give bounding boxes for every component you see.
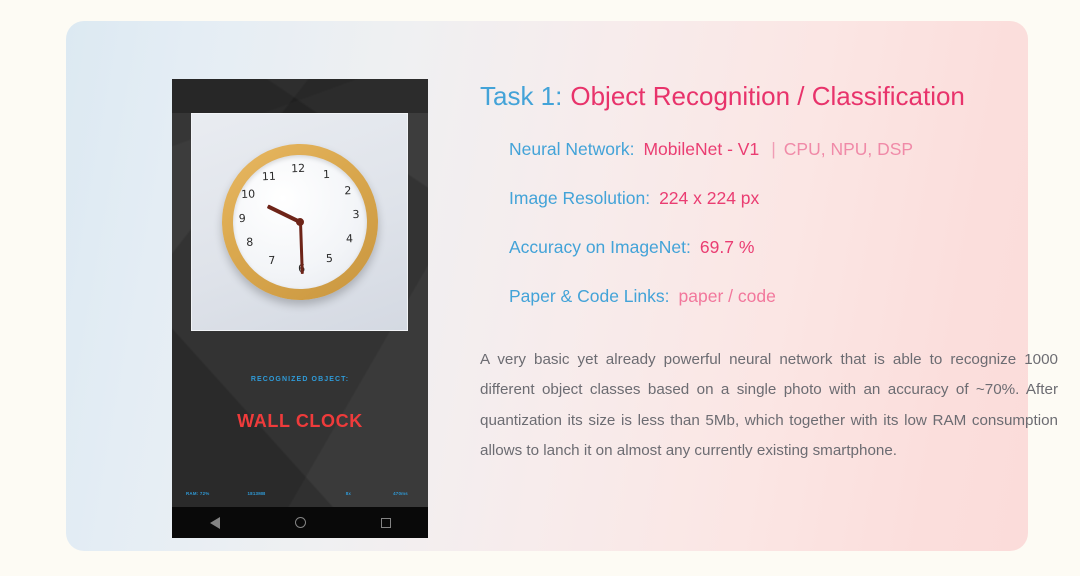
spec-row-neural-network: Neural Network:MobileNet - V1|CPU, NPU, …: [480, 139, 1060, 161]
clock-face: 12 1 2 3 4 5 6 7 8 9 10 11: [230, 153, 369, 292]
spec-label: Image Resolution:: [509, 188, 650, 208]
recognized-object-label: RECOGNIZED OBJECT:: [172, 376, 428, 383]
clock-number: 4: [341, 233, 357, 245]
description-paragraph: A very basic yet already powerful neural…: [480, 345, 1058, 467]
spec-hardware-targets: CPU, NPU, DSP: [784, 139, 913, 159]
task-title-label: Task 1:: [480, 81, 562, 111]
home-icon[interactable]: [295, 517, 306, 528]
clock-number: 11: [260, 171, 276, 183]
stat-ram: RAM: 72%: [186, 491, 209, 496]
clock-number: 1: [318, 169, 334, 181]
clock-number: 3: [347, 209, 363, 221]
task-title-value: Object Recognition / Classification: [570, 81, 965, 111]
spec-label: Accuracy on ImageNet:: [509, 237, 691, 257]
clock-number: 8: [241, 236, 257, 248]
phone-screenshot-mockup: 12 1 2 3 4 5 6 7 8 9 10 11 REC: [172, 79, 428, 538]
recents-icon[interactable]: [381, 518, 391, 528]
spec-value: 224 x 224 px: [659, 188, 759, 208]
slide-card: 12 1 2 3 4 5 6 7 8 9 10 11 REC: [66, 21, 1028, 551]
back-icon[interactable]: [210, 517, 220, 529]
paper-link[interactable]: paper: [679, 286, 724, 306]
spec-row-accuracy: Accuracy on ImageNet:69.7 %: [480, 237, 1060, 259]
stat-latency: 470ms: [393, 491, 408, 496]
clock-number: 5: [321, 253, 337, 265]
spec-row-image-resolution: Image Resolution:224 x 224 px: [480, 188, 1060, 210]
phone-stats-bar: RAM: 72% 1813MB 8x 470ms: [172, 491, 428, 496]
wall-clock-icon: 12 1 2 3 4 5 6 7 8 9 10 11: [219, 141, 380, 302]
spec-row-links: Paper & Code Links:paper / code: [480, 286, 1060, 308]
spec-list: Neural Network:MobileNet - V1|CPU, NPU, …: [480, 139, 1060, 308]
clock-number: 12: [289, 163, 305, 175]
clock-number: 2: [339, 185, 355, 197]
spec-label: Paper & Code Links:: [509, 286, 670, 306]
link-separator: /: [728, 286, 733, 306]
recognized-object-photo: 12 1 2 3 4 5 6 7 8 9 10 11: [191, 113, 408, 331]
clock-number: 7: [263, 255, 279, 267]
clock-center-cap: [295, 218, 303, 226]
stat-threads: 8x: [346, 491, 351, 496]
phone-navigation-bar: [172, 507, 428, 538]
code-link[interactable]: code: [738, 286, 776, 306]
clock-number: 10: [239, 189, 255, 201]
phone-top-bar: [172, 79, 428, 113]
stat-memory: 1813MB: [247, 491, 265, 496]
recognized-object-value: WALL CLOCK: [172, 411, 428, 432]
spec-label: Neural Network:: [509, 139, 634, 159]
spec-value: MobileNet - V1: [643, 139, 759, 159]
spec-value: 69.7 %: [700, 237, 754, 257]
spec-separator: |: [771, 139, 776, 159]
page-title: Task 1:Object Recognition / Classificati…: [480, 81, 1060, 112]
clock-number: 9: [234, 213, 250, 225]
content-panel: Task 1:Object Recognition / Classificati…: [480, 81, 1060, 467]
